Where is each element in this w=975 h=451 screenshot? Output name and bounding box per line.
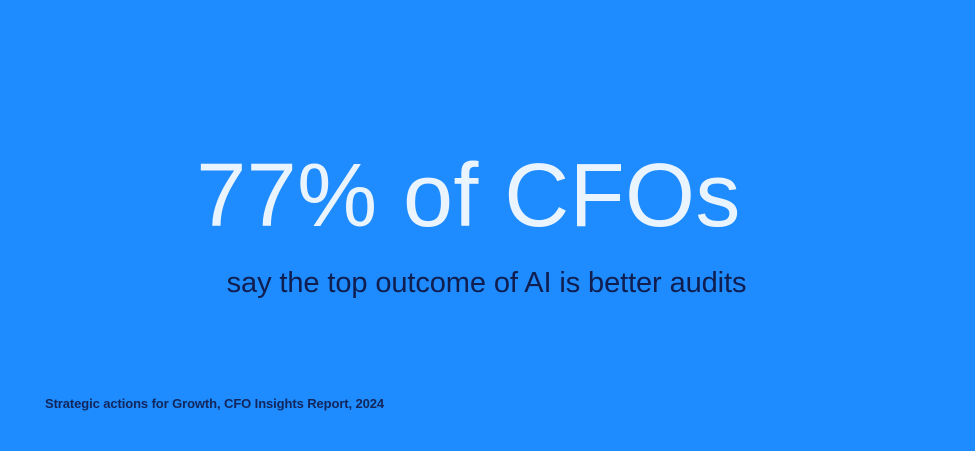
source-citation: Strategic actions for Growth, CFO Insigh… (45, 396, 384, 412)
stat-slide: 77% of CFOs say the top outcome of AI is… (0, 0, 975, 451)
headline-statistic: 77% of CFOs (0, 151, 937, 241)
subheadline-description: say the top outcome of AI is better audi… (0, 266, 973, 301)
